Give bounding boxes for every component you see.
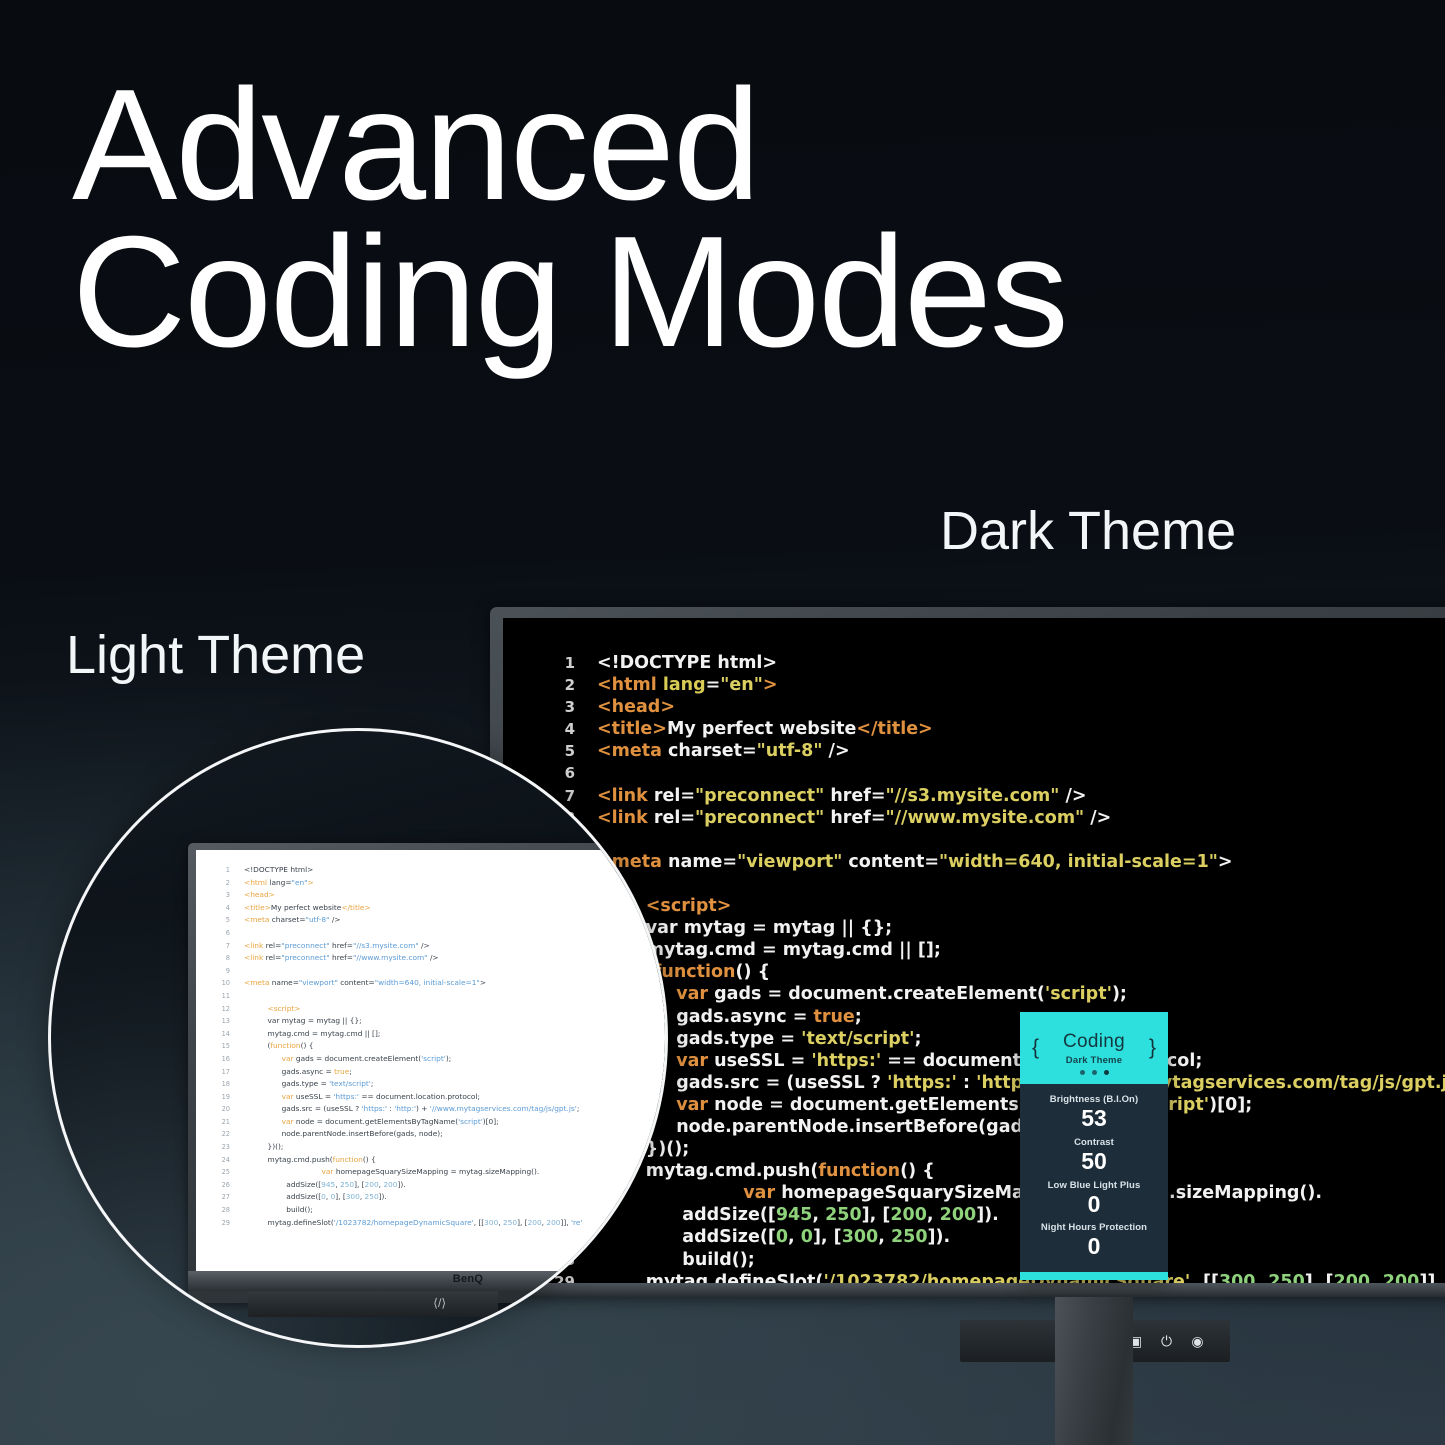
line-number: 17	[214, 1066, 230, 1079]
monitor-stand-neck	[1055, 1297, 1133, 1445]
code-line: 28 build();	[214, 1204, 582, 1217]
brace-left-icon: {	[1032, 1036, 1039, 1060]
code-line: 3<head>	[541, 696, 1445, 718]
code-line: 20 gads.src = (useSSL ? 'https:' : 'http…	[541, 1072, 1445, 1094]
osd-menu[interactable]: { } Coding Dark Theme Brightness (B.I.On…	[1020, 1012, 1168, 1280]
code-line: 16 var gads = document.createElement('sc…	[541, 983, 1445, 1005]
setting-value: 0	[1048, 1192, 1141, 1217]
code-line: 11	[214, 990, 582, 1003]
code-line: 19 var useSSL = 'https:' == document.loc…	[541, 1050, 1445, 1072]
benq-logo-small: BenQ	[453, 1273, 484, 1285]
code-line: 20 gads.src = (useSSL ? 'https:' : 'http…	[214, 1103, 582, 1116]
code-editor-light: 1<!DOCTYPE html>2<html lang="en">3<head>…	[214, 864, 582, 1229]
osd-mode-title: Coding	[1063, 1031, 1125, 1053]
line-number: 13	[214, 1015, 230, 1028]
code-line: 14 mytag.cmd = mytag.cmd || [];	[541, 939, 1445, 961]
line-number: 19	[214, 1091, 230, 1104]
code-line: 27 addSize([0, 0], [300, 250]).	[541, 1226, 1445, 1248]
code-line: 3<head>	[214, 889, 582, 902]
code-line: 17 gads.async = true;	[541, 1006, 1445, 1028]
setting-label: Low Blue Light Plus	[1048, 1180, 1141, 1191]
code-line: 12 <script>	[541, 895, 1445, 917]
line-number: 14	[214, 1028, 230, 1041]
line-number: 5	[214, 914, 230, 927]
code-line: 22 node.parentNode.insertBefore(gads, no…	[214, 1128, 582, 1141]
page-dot-3-active[interactable]	[1104, 1070, 1109, 1075]
code-line: 22 node.parentNode.insertBefore(gads, no…	[541, 1116, 1445, 1138]
setting-label: Contrast	[1074, 1137, 1114, 1148]
setting-label: Brightness (B.I.On)	[1050, 1094, 1138, 1105]
code-line: 15 (function() {	[541, 961, 1445, 983]
line-number: 21	[214, 1116, 230, 1129]
line-number: 27	[214, 1191, 230, 1204]
code-line: 1<!DOCTYPE html>	[541, 652, 1445, 674]
code-line: 29 mytag.defineSlot('/1023782/homepageDy…	[541, 1271, 1445, 1283]
code-line: 6	[541, 762, 1445, 784]
setting-value: 50	[1074, 1149, 1114, 1174]
code-line: 25 var homepageSquarySizeMapping = mytag…	[214, 1166, 582, 1179]
osd-setting-contrast[interactable]: Contrast 50	[1074, 1137, 1114, 1174]
magnifier-circle: 1<!DOCTYPE html>2<html lang="en">3<head>…	[48, 728, 668, 1348]
line-number: 3	[541, 696, 575, 718]
code-line: 24 mytag.cmd.push(function() {	[541, 1160, 1445, 1182]
code-line: 10<meta name="viewport" content="width=6…	[541, 851, 1445, 873]
code-line: 24 mytag.cmd.push(function() {	[214, 1154, 582, 1167]
line-number: 11	[214, 990, 230, 1003]
line-number: 5	[541, 740, 575, 762]
osd-header: { } Coding Dark Theme	[1020, 1012, 1168, 1084]
line-number: 2	[214, 877, 230, 890]
code-line: 7<link rel="preconnect" href="//s3.mysit…	[541, 785, 1445, 807]
osd-accent-bar	[1020, 1272, 1168, 1280]
line-number: 10	[214, 977, 230, 990]
code-line: 6	[214, 927, 582, 940]
monitor-chin-light: BenQ	[188, 1271, 668, 1291]
line-number: 4	[214, 902, 230, 915]
code-line: 13 var mytag = mytag || {};	[541, 917, 1445, 939]
code-line: 5<meta charset="utf-8" />	[541, 740, 1445, 762]
code-line: 23 })();	[214, 1141, 582, 1154]
code-line: 7<link rel="preconnect" href="//s3.mysit…	[214, 940, 582, 953]
code-line: 14 mytag.cmd = mytag.cmd || [];	[214, 1028, 582, 1041]
osd-setting-low-blue-light-plus[interactable]: Low Blue Light Plus 0	[1048, 1180, 1141, 1217]
code-line: 11	[541, 873, 1445, 895]
code-line: 2<html lang="en">	[541, 674, 1445, 696]
osd-mode-subtitle: Dark Theme	[1066, 1055, 1122, 1066]
brace-right-icon: }	[1149, 1036, 1156, 1060]
line-number: 2	[541, 674, 575, 696]
line-number: 1	[214, 864, 230, 877]
code-line: 17 gads.async = true;	[214, 1066, 582, 1079]
line-number: 9	[214, 965, 230, 978]
code-line: 23 })();	[541, 1138, 1445, 1160]
light-theme-label: Light Theme	[66, 624, 365, 686]
line-number: 1	[541, 652, 575, 674]
coding-mode-icon-small[interactable]: ⟨/⟩	[433, 1296, 446, 1310]
code-line: 28 build();	[541, 1249, 1445, 1271]
code-line: 1<!DOCTYPE html>	[214, 864, 582, 877]
line-number: 7	[214, 940, 230, 953]
code-line: 18 gads.type = 'text/script';	[541, 1028, 1445, 1050]
osd-page-dots[interactable]	[1020, 1070, 1168, 1075]
osd-settings-list: Brightness (B.I.On) 53 Contrast 50 Low B…	[1020, 1084, 1168, 1272]
dark-theme-label: Dark Theme	[940, 500, 1236, 562]
line-number: 6	[541, 762, 575, 784]
code-line: 4<title>My perfect website</title>	[541, 718, 1445, 740]
code-line: 4<title>My perfect website</title>	[214, 902, 582, 915]
line-number: 29	[214, 1217, 230, 1230]
code-line: 2<html lang="en">	[214, 877, 582, 890]
line-number: 20	[214, 1103, 230, 1116]
code-line: 29 mytag.defineSlot('/1023782/homepageDy…	[214, 1217, 582, 1230]
code-line: 21 var node = document.getElementsByTagN…	[214, 1116, 582, 1129]
code-line: 16 var gads = document.createElement('sc…	[214, 1053, 582, 1066]
osd-setting-brightness[interactable]: Brightness (B.I.On) 53	[1050, 1094, 1138, 1131]
page-dot-1[interactable]	[1080, 1070, 1085, 1075]
code-line: 26 addSize([945, 250], [200, 200]).	[214, 1179, 582, 1192]
setting-value: 0	[1041, 1234, 1147, 1259]
code-editor-dark: 1<!DOCTYPE html>2<html lang="en">3<head>…	[541, 652, 1445, 1283]
monitor-control-strip-light[interactable]: ⟨/⟩	[248, 1291, 498, 1317]
code-line: 13 var mytag = mytag || {};	[214, 1015, 582, 1028]
line-number: 24	[214, 1154, 230, 1167]
page-title: Advanced Coding Modes	[72, 72, 1302, 366]
code-line: 15 (function() {	[214, 1040, 582, 1053]
line-number: 8	[214, 952, 230, 965]
setting-label: Night Hours Protection	[1041, 1222, 1147, 1233]
code-line: 9	[541, 829, 1445, 851]
code-line: 10<meta name="viewport" content="width=6…	[214, 977, 582, 990]
code-line: 27 addSize([0, 0], [300, 250]).	[214, 1191, 582, 1204]
code-line: 8<link rel="preconnect" href="//www.mysi…	[541, 807, 1445, 829]
code-line: 25 var homepageSquarySizeMapping = mytag…	[541, 1182, 1445, 1204]
eye-care-icon[interactable]: ◉	[1189, 1333, 1206, 1350]
setting-value: 53	[1050, 1106, 1138, 1131]
line-number: 6	[214, 927, 230, 940]
line-number: 3	[214, 889, 230, 902]
line-number: 12	[214, 1003, 230, 1016]
line-number: 16	[214, 1053, 230, 1066]
code-line: 9	[214, 965, 582, 978]
page-dot-2[interactable]	[1092, 1070, 1097, 1075]
code-line: 8<link rel="preconnect" href="//www.mysi…	[214, 952, 582, 965]
line-number: 28	[214, 1204, 230, 1217]
line-number: 25	[214, 1166, 230, 1179]
monitor-screen-light: 1<!DOCTYPE html>2<html lang="en">3<head>…	[196, 850, 668, 1271]
power-icon[interactable]: ⏻	[1158, 1333, 1175, 1350]
light-theme-monitor: 1<!DOCTYPE html>2<html lang="en">3<head>…	[188, 843, 668, 1303]
line-number: 23	[214, 1141, 230, 1154]
line-number: 4	[541, 718, 575, 740]
code-line: 26 addSize([945, 250], [200, 200]).	[541, 1204, 1445, 1226]
code-line: 21 var node = document.getElementsByTagN…	[541, 1094, 1445, 1116]
line-number: 15	[214, 1040, 230, 1053]
code-line: 19 var useSSL = 'https:' == document.loc…	[214, 1091, 582, 1104]
code-line: 12 <script>	[214, 1003, 582, 1016]
line-number: 22	[214, 1128, 230, 1141]
osd-setting-night-hours-protection[interactable]: Night Hours Protection 0	[1041, 1222, 1147, 1259]
line-number: 18	[214, 1078, 230, 1091]
line-number: 26	[214, 1179, 230, 1192]
code-line: 18 gads.type = 'text/script';	[214, 1078, 582, 1091]
code-line: 5<meta charset="utf-8" />	[214, 914, 582, 927]
